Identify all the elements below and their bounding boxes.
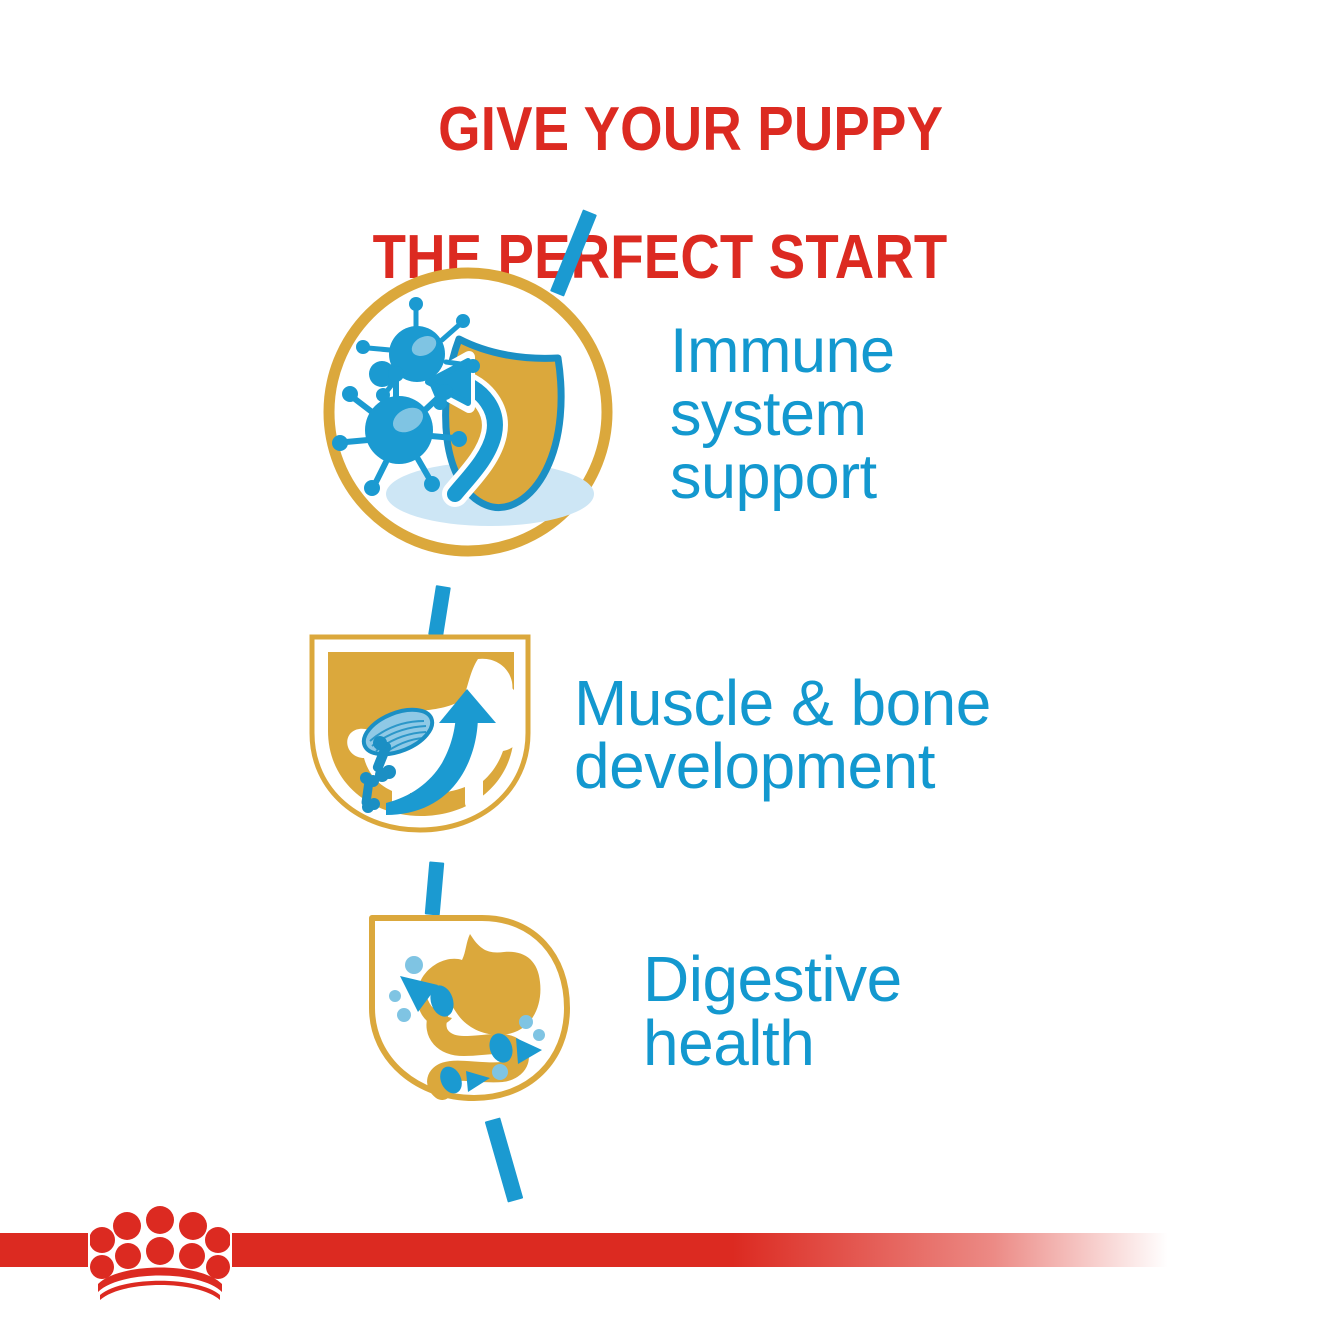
digestive-stomach-icon xyxy=(362,908,577,1113)
feature-label-immune: Immune system support xyxy=(670,320,895,509)
brand-rule-right xyxy=(232,1233,1320,1267)
feature-label-muscle-bone: Muscle & bone development xyxy=(574,672,991,797)
immune-shield-virus-icon xyxy=(318,262,618,567)
infographic-canvas: GIVE YOUR PUPPY THE PERFECT START xyxy=(0,0,1320,1320)
feature-row-digestive: Digestive health xyxy=(362,908,902,1113)
feature-row-muscle-bone: Muscle & bone development xyxy=(300,625,991,845)
feature-row-immune: Immune system support xyxy=(318,262,895,567)
page-title-line-1: GIVE YOUR PUPPY xyxy=(438,95,943,164)
connector-dash-4 xyxy=(485,1117,524,1202)
brand-rule-left xyxy=(0,1233,88,1267)
muscle-bone-puppy-icon xyxy=(300,625,540,845)
royal-canin-crown-logo xyxy=(90,1204,230,1300)
feature-label-digestive: Digestive health xyxy=(643,947,902,1075)
